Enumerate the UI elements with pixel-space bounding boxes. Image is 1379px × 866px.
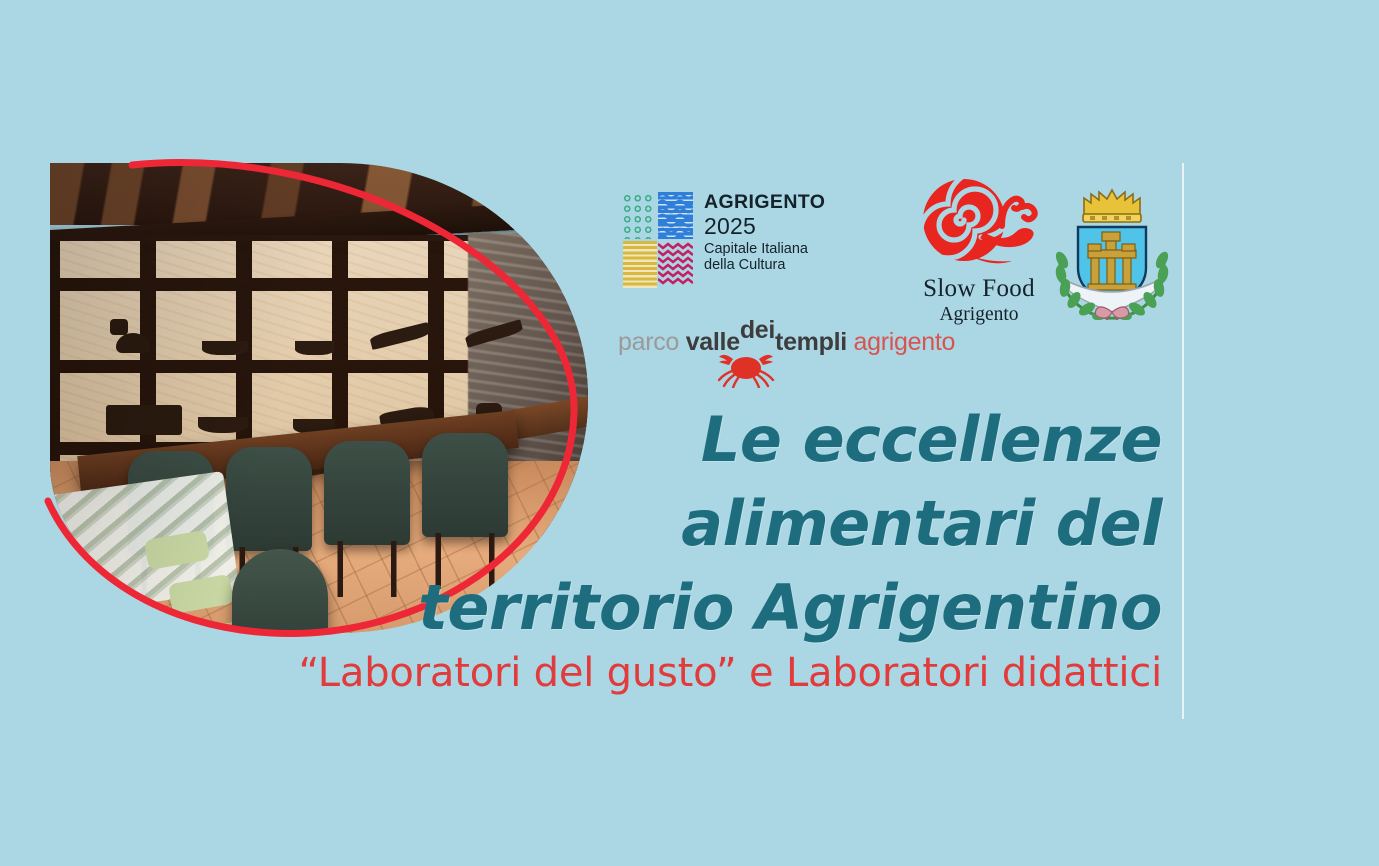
title-line-1: Le eccellenze xyxy=(0,398,1162,482)
agrigento-2025-text: AGRIGENTO 2025 Capitale Italiana della C… xyxy=(704,192,825,273)
slow-food-line1: Slow Food xyxy=(916,275,1042,303)
agrigento-2025-line4: della Cultura xyxy=(704,258,825,274)
agrigento-2025-line2: 2025 xyxy=(704,214,825,239)
mark-quadrant-zigzag xyxy=(658,241,693,288)
mark-quadrant-waves xyxy=(658,192,693,239)
parco-word-templi: templi xyxy=(775,328,847,356)
poster-canvas: AGRIGENTO 2025 Capitale Italiana della C… xyxy=(0,0,1379,866)
agrigento-2025-mark-icon xyxy=(621,192,693,288)
crab-icon xyxy=(713,342,779,388)
title-line-3: territorio Agrigentino xyxy=(0,566,1162,650)
logo-slow-food-agrigento: Slow Food Agrigento xyxy=(916,176,1042,316)
agrigento-2025-line1: AGRIGENTO xyxy=(704,192,825,213)
parco-word-dei: dei xyxy=(740,316,775,344)
parco-word-agrigento: agrigento xyxy=(854,328,956,356)
snail-icon xyxy=(920,176,1038,268)
parco-wordmark: parco valledeitempli agrigento xyxy=(618,328,955,357)
mark-quadrant-circles xyxy=(621,192,655,239)
mark-quadrant-stripes xyxy=(623,241,657,288)
title-line-2: alimentari del xyxy=(0,482,1162,566)
poster-subtitle: “Laboratori del gusto” e Laboratori dida… xyxy=(0,645,1162,701)
logo-parco-valle-dei-templi: parco valledeitempli agrigento xyxy=(618,316,918,378)
parco-word-parco: parco xyxy=(618,328,679,356)
poster-title: Le eccellenze alimentari del territorio … xyxy=(0,398,1162,650)
crown-icon xyxy=(1083,190,1141,222)
logo-agrigento-2025: AGRIGENTO 2025 Capitale Italiana della C… xyxy=(621,192,825,288)
comune-agrigento-coat-of-arms-icon xyxy=(1038,172,1186,320)
agrigento-2025-line3: Capitale Italiana xyxy=(704,242,825,258)
slow-food-line2: Agrigento xyxy=(916,304,1042,326)
